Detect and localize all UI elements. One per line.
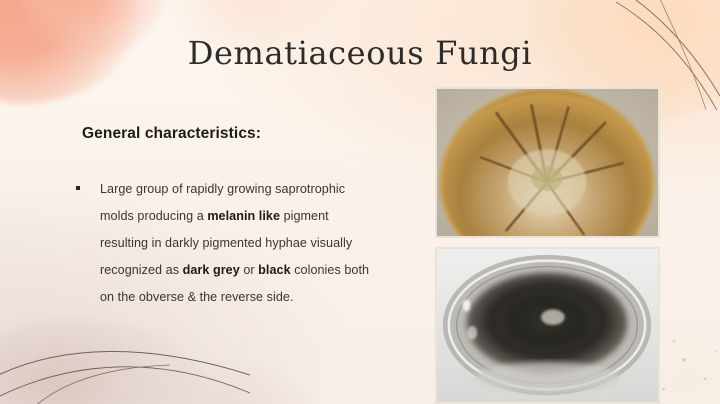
slide-title: Dematiaceous Fungi (0, 36, 720, 71)
list-item: Large group of rapidly growing saprotrop… (76, 176, 376, 311)
mauve-wash-bottom-center (120, 364, 320, 404)
square-bullet-icon (76, 176, 100, 193)
mauve-wash-bottom-left (0, 320, 200, 404)
body-subheading: General characteristics: (82, 125, 376, 143)
list-item-text: Large group of rapidly growing saprotrop… (100, 176, 376, 311)
fungal-colony-petri-dish-photo (435, 247, 660, 404)
slide-canvas: Dematiaceous Fungi General characteristi… (0, 0, 720, 404)
fungal-colony-obverse-photo (435, 87, 660, 238)
line-arcs-bottom-left (0, 309, 250, 404)
body-column: General characteristics: Large group of … (76, 125, 376, 311)
